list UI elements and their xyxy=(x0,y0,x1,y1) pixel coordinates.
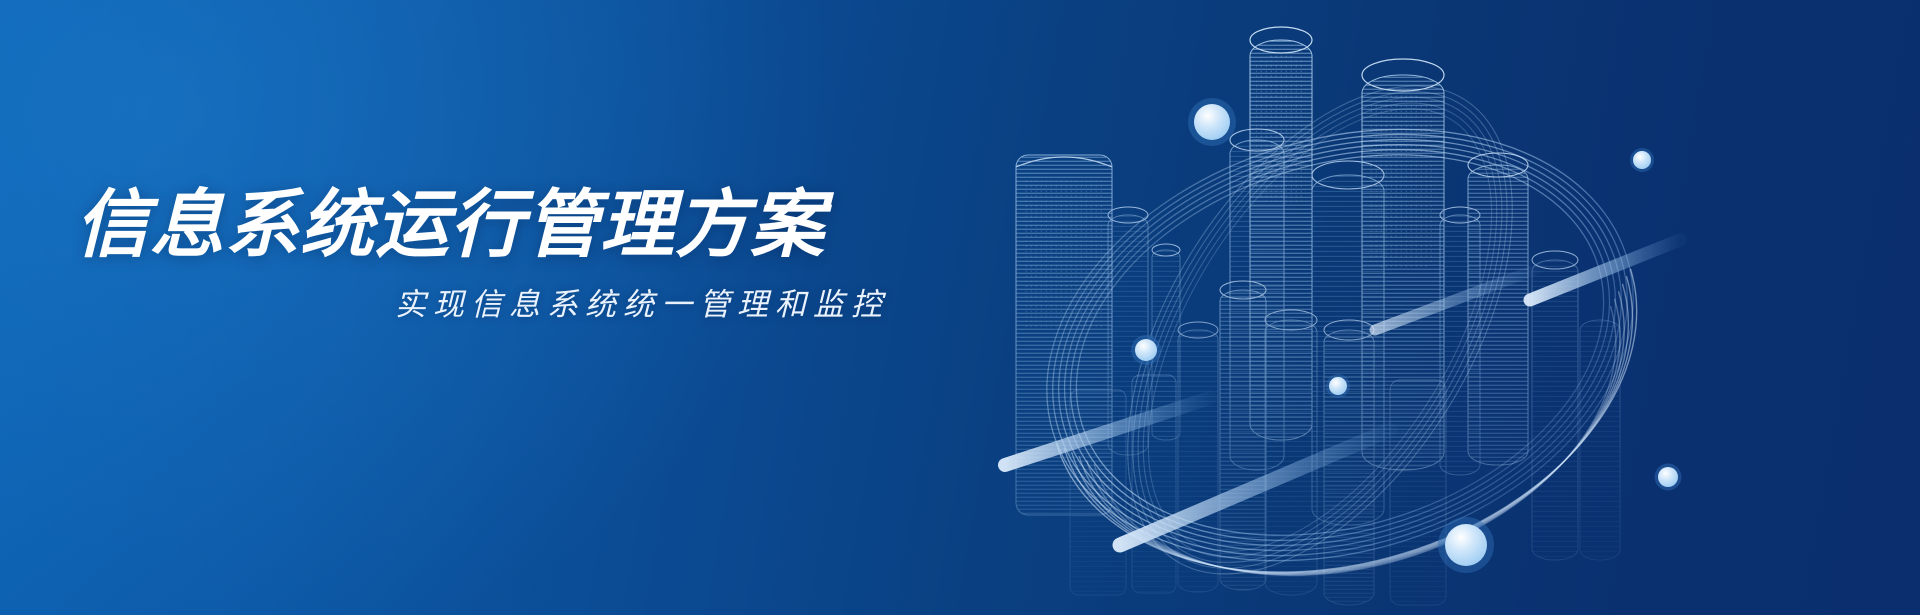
tower-right-b xyxy=(1580,320,1620,560)
tower-t16 xyxy=(1390,380,1446,605)
tower-cluster xyxy=(1016,27,1620,605)
tower-t1 xyxy=(1220,281,1266,590)
glow-dot-d6 xyxy=(1326,374,1350,398)
banner-subtitle: 实现信息系统统一管理和监控 xyxy=(75,286,905,323)
banner-text-block: 信息系统运行管理方案 实现信息系统统一管理和监控 xyxy=(75,186,905,324)
glow-dot-d2 xyxy=(1131,335,1161,365)
glow-dot-d5 xyxy=(1655,464,1682,491)
banner-title: 信息系统运行管理方案 xyxy=(75,186,905,264)
glow-dot-d1 xyxy=(1188,98,1236,146)
glow-dot-d3 xyxy=(1438,517,1494,573)
city-skyline-svg xyxy=(920,0,1920,615)
hero-banner: 信息系统运行管理方案 实现信息系统统一管理和监控 xyxy=(0,0,1920,615)
tower-t4 xyxy=(1070,390,1126,595)
wireframe-city-graphic xyxy=(920,0,1920,615)
glow-dot-d4 xyxy=(1630,148,1654,172)
tower-t2 xyxy=(1178,322,1218,592)
tower-t5 xyxy=(1265,310,1317,595)
